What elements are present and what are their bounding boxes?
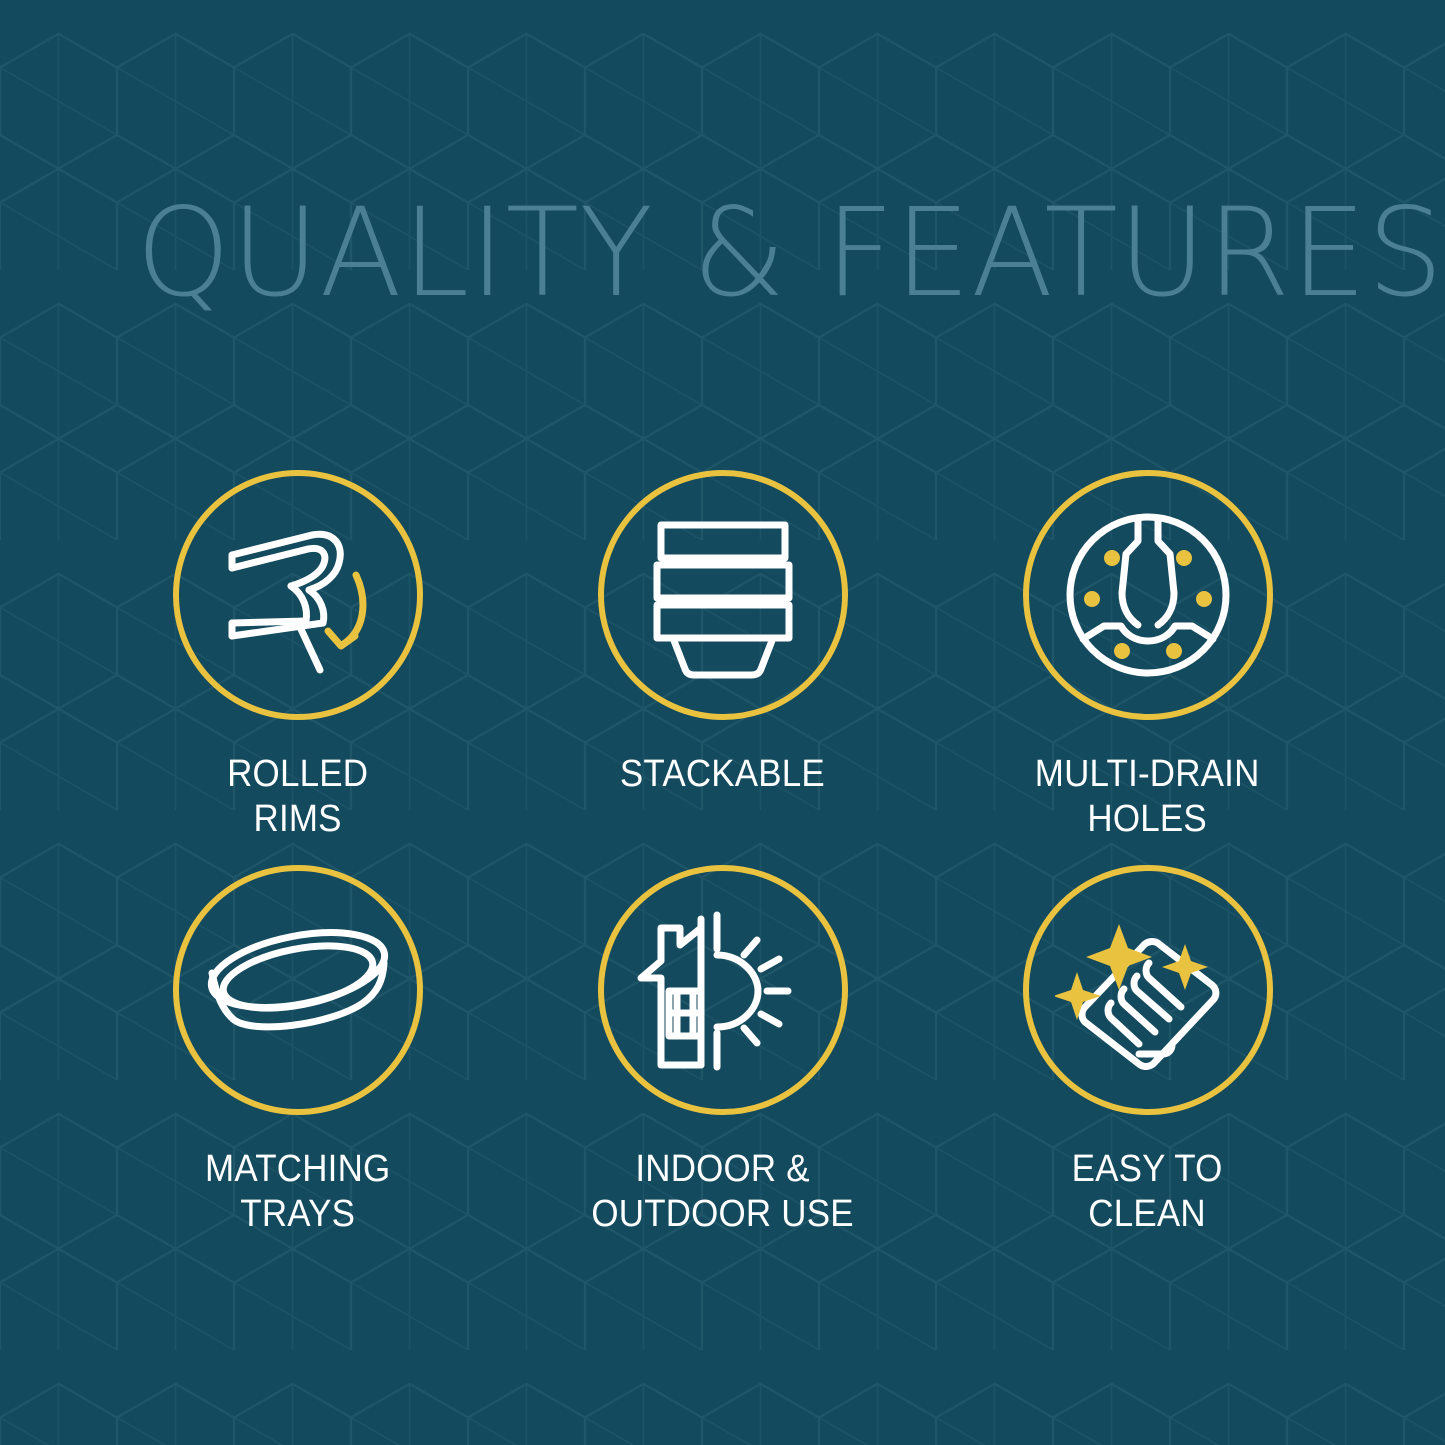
page-title: QUALITY & FEATURES <box>136 192 1444 314</box>
feature-grid: ROLLED RIMS STACKABLE <box>85 470 1360 1260</box>
icon-ring <box>1023 470 1273 720</box>
icon-ring <box>598 865 848 1115</box>
icon-ring <box>173 865 423 1115</box>
feature-label: MATCHING TRAYS <box>205 1147 390 1237</box>
feature-label: ROLLED RIMS <box>227 752 368 842</box>
hand-wipe-sparkle-icon <box>1055 904 1241 1076</box>
feature-label: INDOOR & OUTDOOR USE <box>591 1147 853 1237</box>
stacked-pots-icon <box>637 509 809 681</box>
feature-item-stackable[interactable]: STACKABLE <box>510 470 935 865</box>
oval-tray-icon <box>203 915 393 1065</box>
feature-item-rolled-rims[interactable]: ROLLED RIMS <box>85 470 510 865</box>
feature-label: MULTI-DRAIN HOLES <box>1035 752 1260 842</box>
feature-label: STACKABLE <box>620 752 825 797</box>
feature-item-indoor-outdoor-use[interactable]: INDOOR & OUTDOOR USE <box>510 865 935 1260</box>
infographic-page: QUALITY & FEATURES <box>0 0 1445 1445</box>
icon-ring <box>598 470 848 720</box>
feature-item-matching-trays[interactable]: MATCHING TRAYS <box>85 865 510 1260</box>
house-sun-icon <box>633 905 813 1075</box>
drain-holes-icon <box>1060 507 1236 683</box>
feature-item-multi-drain-holes[interactable]: MULTI-DRAIN HOLES <box>935 470 1360 865</box>
rolled-rim-icon <box>208 505 388 685</box>
icon-ring <box>1023 865 1273 1115</box>
icon-ring <box>173 470 423 720</box>
feature-item-easy-to-clean[interactable]: EASY TO CLEAN <box>935 865 1360 1260</box>
feature-label: EASY TO CLEAN <box>1072 1147 1223 1237</box>
